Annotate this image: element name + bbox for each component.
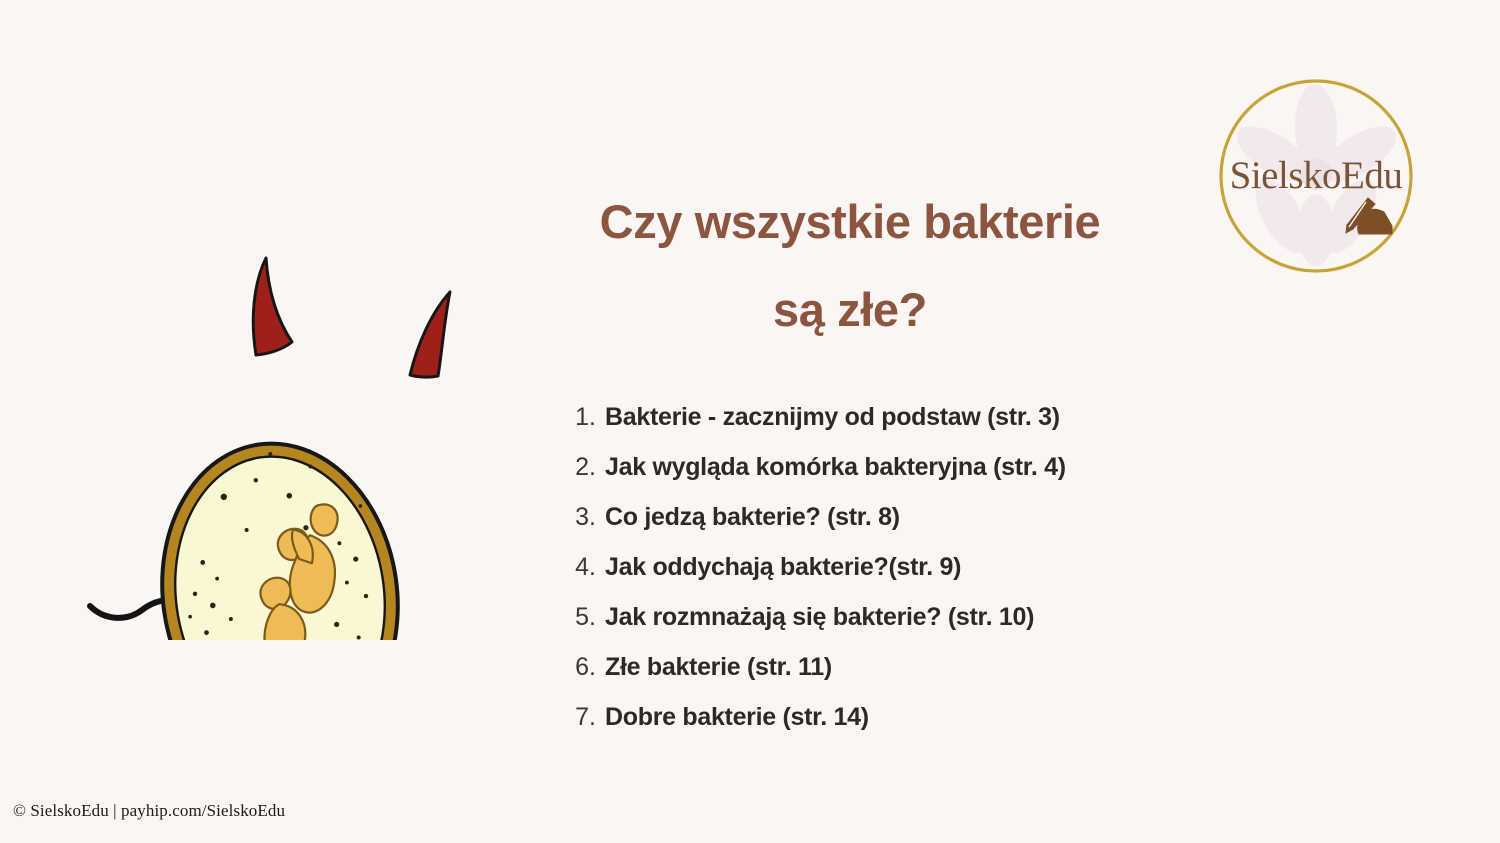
page-title: Czy wszystkie bakterie są złe? — [540, 178, 1160, 354]
logo-text: SielskoEdu — [1230, 154, 1403, 197]
devil-bacteria-illustration — [60, 240, 480, 640]
list-item[interactable]: 2. Jak wygląda komórka bakteryjna (str. … — [560, 442, 1200, 492]
copyright-footer: © SielskoEdu | payhip.com/SielskoEdu — [13, 801, 285, 821]
list-item[interactable]: 7. Dobre bakterie (str. 14) — [560, 692, 1200, 742]
list-item[interactable]: 4. Jak oddychają bakterie?(str. 9) — [560, 542, 1200, 592]
list-item-label: Dobre bakterie (str. 14) — [605, 692, 869, 742]
page-title-line-2: są złe? — [540, 266, 1160, 354]
list-item-label: Jak oddychają bakterie?(str. 9) — [605, 542, 961, 592]
list-item-number: 2. — [560, 442, 596, 492]
list-item-number: 5. — [560, 592, 596, 642]
list-item-label: Jak wygląda komórka bakteryjna (str. 4) — [605, 442, 1066, 492]
slide-canvas: SielskoEdu — [0, 0, 1500, 843]
list-item-number: 7. — [560, 692, 596, 742]
list-item[interactable]: 1. Bakterie - zacznijmy od podstaw (str.… — [560, 392, 1200, 442]
list-item-number: 6. — [560, 642, 596, 692]
table-of-contents: 1. Bakterie - zacznijmy od podstaw (str.… — [560, 392, 1200, 742]
page-title-line-1: Czy wszystkie bakterie — [540, 178, 1160, 266]
list-item-number: 1. — [560, 392, 596, 442]
list-item-number: 4. — [560, 542, 596, 592]
list-item-label: Co jedzą bakterie? (str. 8) — [605, 492, 900, 542]
list-item[interactable]: 5. Jak rozmnażają się bakterie? (str. 10… — [560, 592, 1200, 642]
sielskoedu-logo[interactable]: SielskoEdu — [1216, 76, 1416, 276]
list-item[interactable]: 6. Złe bakterie (str. 11) — [560, 642, 1200, 692]
list-item-label: Bakterie - zacznijmy od podstaw (str. 3) — [605, 392, 1060, 442]
list-item[interactable]: 3. Co jedzą bakterie? (str. 8) — [560, 492, 1200, 542]
devil-horns-icon — [253, 258, 450, 377]
list-item-label: Jak rozmnażają się bakterie? (str. 10) — [605, 592, 1034, 642]
list-item-number: 3. — [560, 492, 596, 542]
list-item-label: Złe bakterie (str. 11) — [605, 642, 832, 692]
